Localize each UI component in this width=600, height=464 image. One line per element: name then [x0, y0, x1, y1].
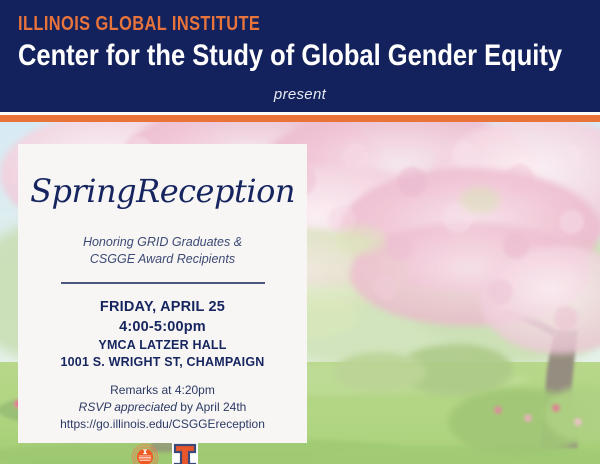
- event-title: SpringReception: [18, 170, 307, 212]
- event-address: 1001 S. WRIGHT ST, CHAMPAIGN: [18, 354, 307, 371]
- institute-name: ILLINOIS GLOBAL INSTITUTE: [18, 12, 487, 36]
- remarks-note: Remarks at 4:20pm: [18, 382, 307, 399]
- invitation-card: SpringReception Honoring GRID Graduates …: [18, 144, 307, 443]
- rsvp-link[interactable]: https://go.illinois.edu/CSGGEreception: [18, 416, 307, 433]
- honoring-line-1: Honoring GRID Graduates &: [18, 234, 307, 251]
- rsvp-note: RSVP appreciated by April 24th: [18, 399, 307, 416]
- rsvp-deadline: by April 24th: [177, 400, 246, 414]
- event-venue: YMCA LATZER HALL: [18, 337, 307, 354]
- section-divider: [61, 282, 265, 284]
- honoring-line-2: CSGGE Award Recipients: [18, 251, 307, 268]
- present-label: present: [0, 86, 600, 103]
- flyer-canvas: ILLINOIS GLOBAL INSTITUTE Center for the…: [0, 0, 600, 464]
- header-orange-stripe: [0, 115, 600, 122]
- center-name: Center for the Study of Global Gender Eq…: [18, 39, 504, 73]
- event-date: FRIDAY, APRIL 25: [18, 297, 307, 317]
- event-footer-group: Remarks at 4:20pm RSVP appreciated by Ap…: [18, 382, 307, 433]
- event-details-group: FRIDAY, APRIL 25 4:00-5:00pm YMCA LATZER…: [18, 297, 307, 371]
- rsvp-emphasis: RSVP appreciated: [79, 400, 177, 414]
- illinois-block-i-logo-icon: [172, 443, 198, 464]
- header-band: ILLINOIS GLOBAL INSTITUTE Center for the…: [0, 0, 600, 112]
- header-text-group: ILLINOIS GLOBAL INSTITUTE Center for the…: [18, 12, 590, 73]
- event-time: 4:00-5:00pm: [18, 317, 307, 337]
- logo-row: [18, 443, 307, 464]
- honoring-group: Honoring GRID Graduates & CSGGE Award Re…: [18, 234, 307, 268]
- university-of-illinois-seal-icon: [128, 443, 162, 464]
